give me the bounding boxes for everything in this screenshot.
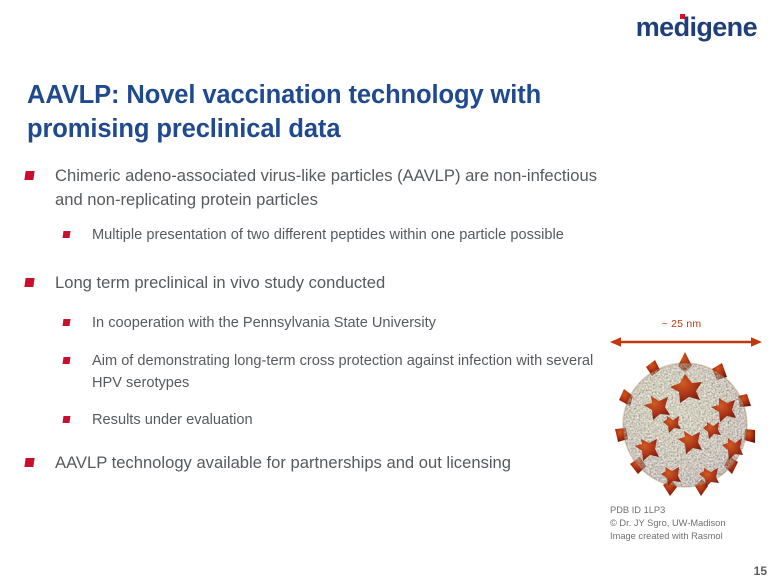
aav-capsid-image: [610, 350, 760, 500]
list-item-label: AAVLP technology available for partnersh…: [55, 451, 622, 475]
list-item: Chimeric adeno-associated virus-like par…: [22, 164, 622, 213]
list-item: AAVLP technology available for partnersh…: [22, 451, 622, 475]
scale-label: ~ 25 nm: [605, 318, 758, 330]
list-item: Long term preclinical in vivo study cond…: [22, 271, 622, 295]
bullet-square-icon: [63, 416, 71, 423]
page-number: 15: [754, 564, 767, 578]
logo-accent-dot-icon: [680, 14, 685, 19]
bullet-square-icon: [63, 231, 71, 238]
bullet-square-icon: [24, 171, 34, 180]
list-item-label: Aim of demonstrating long-term cross pro…: [92, 351, 622, 395]
bullet-square-icon: [63, 319, 71, 326]
bullet-square-icon: [24, 278, 34, 287]
page-title: AAVLP: Novel vaccination technology with…: [27, 79, 647, 147]
medigene-logo: medigene: [636, 14, 757, 41]
list-item: Results under evaluation: [22, 410, 622, 432]
figure-caption: PDB ID 1LP3 © Dr. JY Sgro, UW-Madison Im…: [610, 504, 726, 542]
list-item-label: Chimeric adeno-associated virus-like par…: [55, 164, 622, 213]
slide: medigene AAVLP: Novel vaccination techno…: [0, 0, 781, 586]
bullet-square-icon: [24, 458, 34, 467]
list-item: Multiple presentation of two different p…: [22, 225, 622, 247]
bullet-square-icon: [63, 357, 71, 364]
list-item-label: In cooperation with the Pennsylvania Sta…: [92, 313, 622, 335]
list-item: Aim of demonstrating long-term cross pro…: [22, 351, 622, 395]
list-item-label: Multiple presentation of two different p…: [92, 225, 622, 247]
logo-text: medigene: [636, 12, 757, 42]
bullet-list: Chimeric adeno-associated virus-like par…: [22, 164, 622, 486]
list-item-label: Long term preclinical in vivo study cond…: [55, 271, 622, 295]
page-title-line-1: AAVLP: Novel vaccination technology with: [27, 81, 541, 109]
page-title-line-2: promising preclinical data: [27, 115, 340, 143]
list-item-label: Results under evaluation: [92, 410, 622, 432]
scale-double-arrow-icon: [610, 336, 762, 348]
list-item: In cooperation with the Pennsylvania Sta…: [22, 313, 622, 335]
